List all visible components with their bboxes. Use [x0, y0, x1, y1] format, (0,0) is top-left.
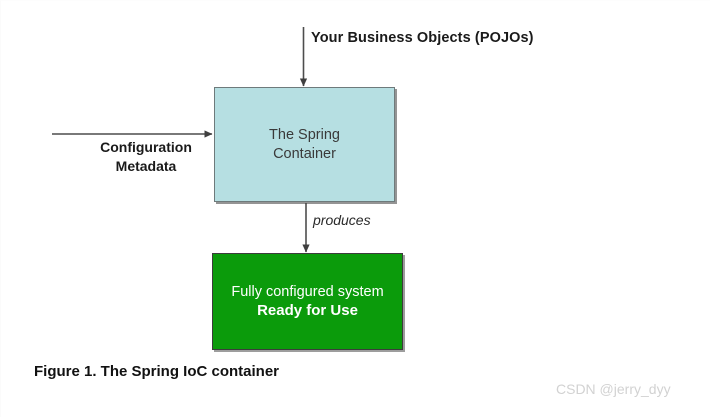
produces-edge-label: produces — [313, 212, 371, 228]
figure-caption: Figure 1. The Spring IoC container — [34, 363, 279, 380]
csdn-watermark: CSDN @jerry_dyy — [556, 381, 671, 397]
page-frame-edge — [0, 0, 710, 417]
spring-container-line2: Container — [273, 145, 336, 164]
business-objects-label: Your Business Objects (POJOs) — [311, 30, 534, 46]
spring-container-line1: The Spring — [269, 126, 340, 145]
ready-system-line1: Fully configured system — [231, 283, 383, 302]
ready-system-node: Fully configured system Ready for Use — [212, 253, 403, 350]
spring-container-node: The Spring Container — [214, 87, 395, 202]
configuration-metadata-label: Configuration Metadata — [66, 138, 226, 176]
ready-system-line2: Ready for Use — [257, 301, 358, 320]
figure-canvas: Your Business Objects (POJOs) Configurat… — [0, 0, 710, 417]
arrow-layer — [0, 0, 710, 417]
